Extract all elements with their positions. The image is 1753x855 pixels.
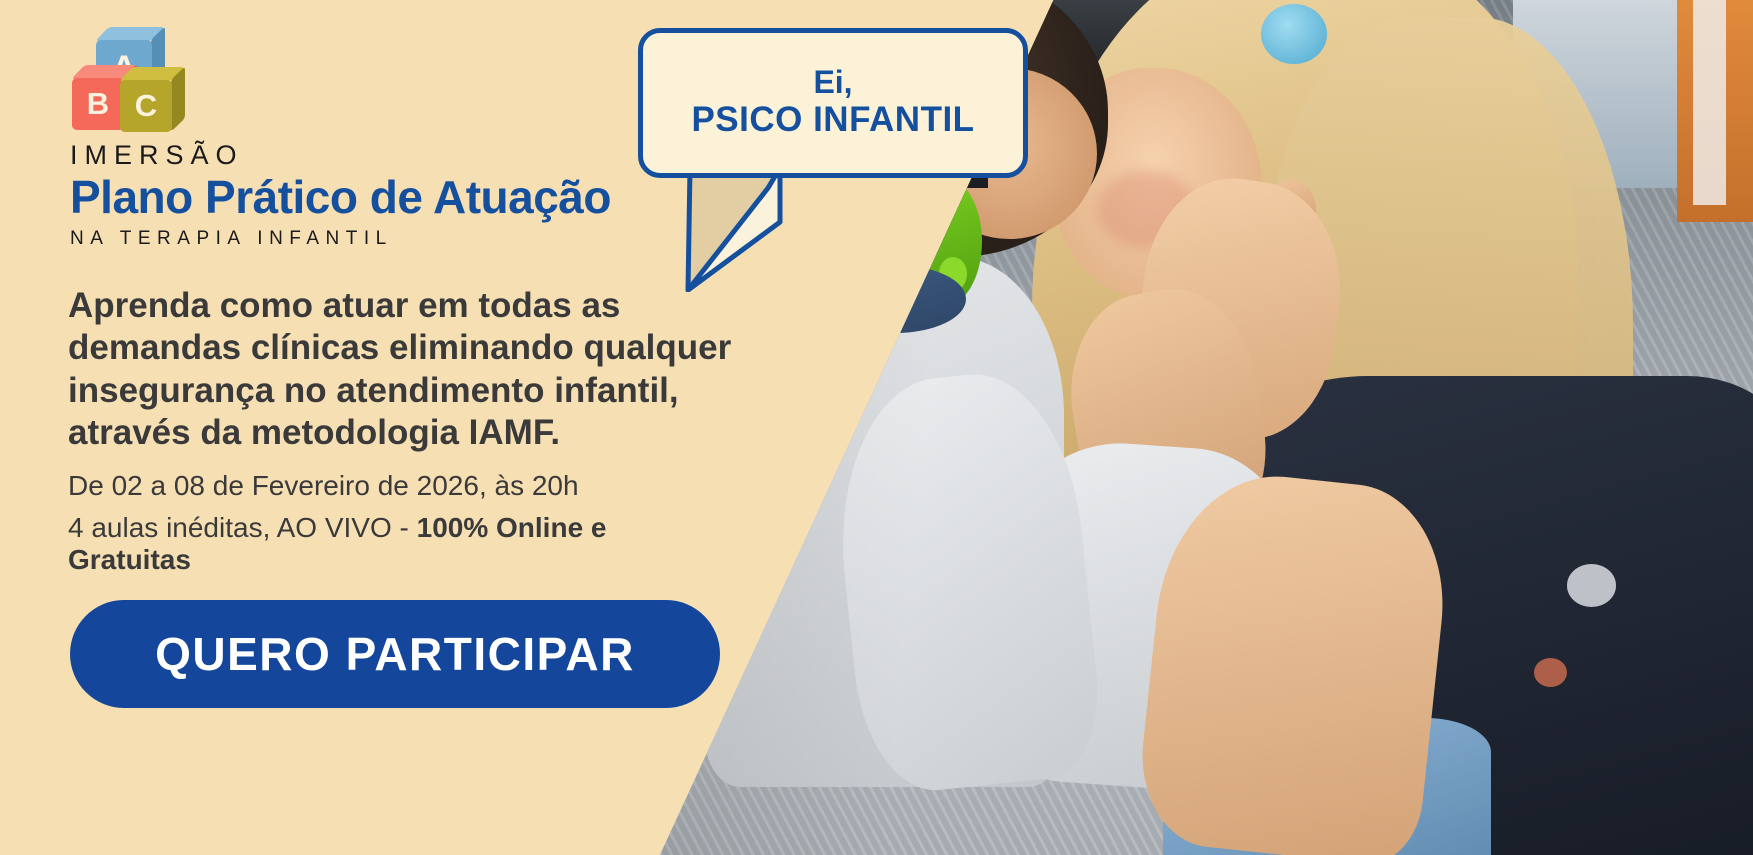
brand-subtitle: NA TERAPIA INFANTIL <box>70 228 393 250</box>
event-format-line: 4 aulas inéditas, AO VIVO - 100% Online … <box>68 512 700 576</box>
abc-blocks-logo: A B C <box>70 28 192 138</box>
girl-hair-clip <box>1261 4 1327 64</box>
content-panel: A B C IMERSÃO Plano Prático de Atuação N… <box>0 0 700 855</box>
brand-kicker: IMERSÃO <box>70 140 244 171</box>
event-date-line: De 02 a 08 de Fevereiro de 2026, às 20h <box>68 470 579 502</box>
event-format-prefix: 4 aulas inéditas, AO VIVO - <box>68 512 417 543</box>
girl-shirt-detail <box>1567 564 1616 607</box>
speech-bubble-body: Ei, PSICO INFANTIL <box>638 28 1028 178</box>
block-c-letter: C <box>120 80 172 132</box>
speech-bubble-line-2: PSICO INFANTIL <box>691 100 974 140</box>
block-b-letter: B <box>72 78 124 130</box>
block-c-side <box>171 66 185 132</box>
speech-bubble-line-1: Ei, <box>813 65 852 100</box>
speech-bubble: Ei, PSICO INFANTIL <box>630 22 1050 292</box>
quero-participar-button[interactable]: QUERO PARTICIPAR <box>70 600 720 708</box>
photo-window-light <box>1693 0 1726 205</box>
headline-text: Aprenda como atuar em todas as demandas … <box>68 285 798 454</box>
block-b-icon: B <box>72 78 124 130</box>
brand-title: Plano Prático de Atuação <box>70 170 611 224</box>
promo-banner: A B C IMERSÃO Plano Prático de Atuação N… <box>0 0 1753 855</box>
block-c-icon: C <box>120 80 172 132</box>
speech-bubble-tail <box>630 162 1050 292</box>
